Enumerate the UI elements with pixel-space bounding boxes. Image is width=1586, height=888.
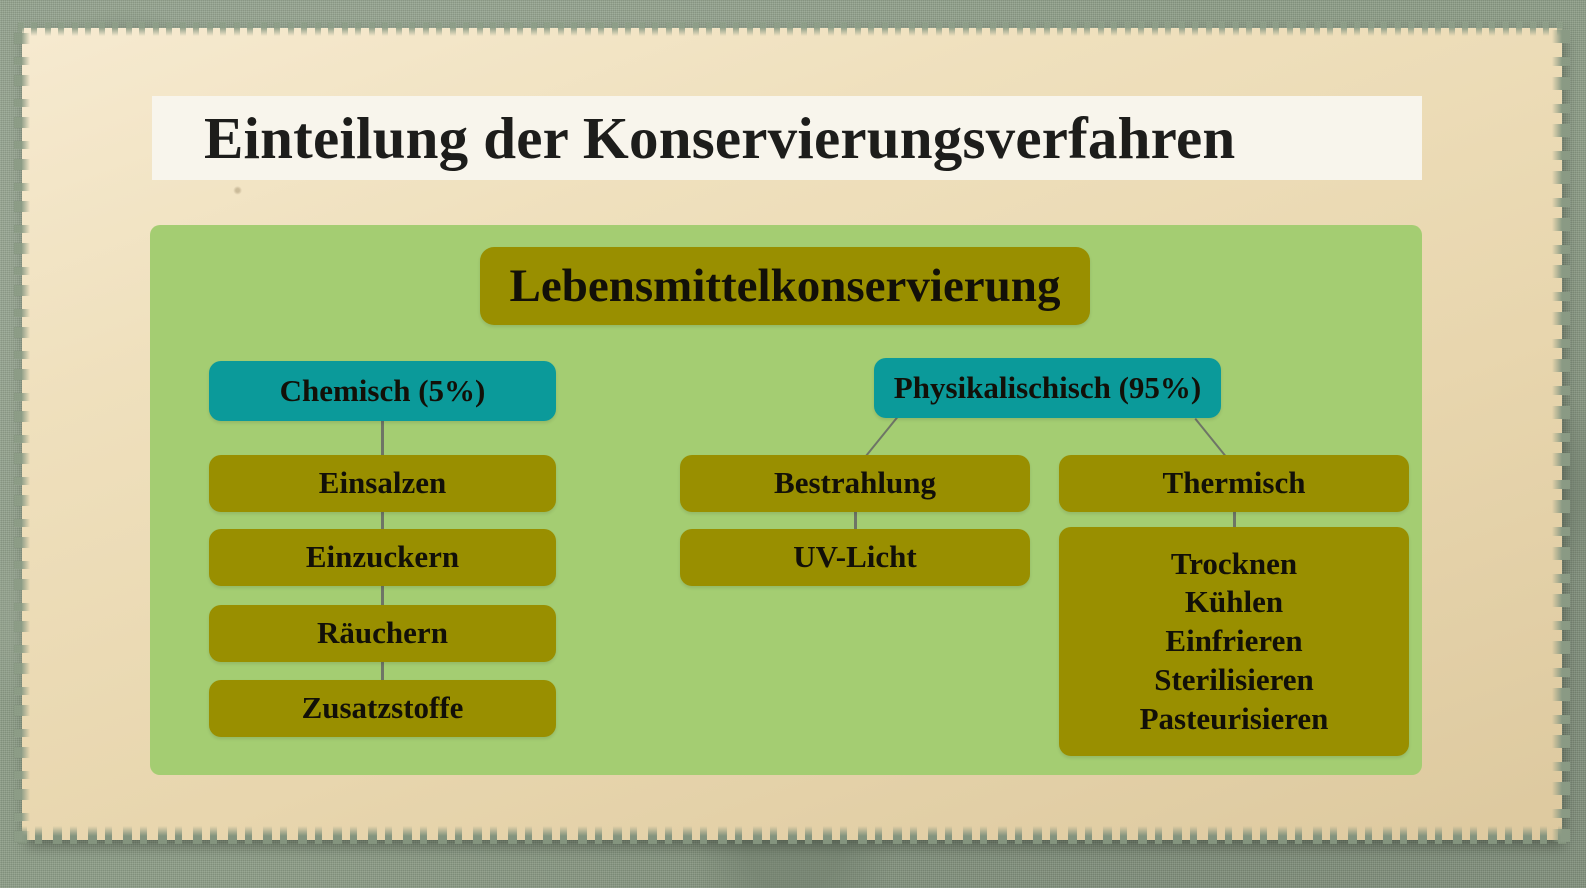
node-einsalzen[interactable]: Einsalzen <box>209 455 556 512</box>
page-title: Einteilung der Konservierungsverfahren <box>204 109 1235 168</box>
node-line: Sterilisieren <box>1154 661 1314 700</box>
node-line: Pasteurisieren <box>1140 700 1329 739</box>
node-thermisch[interactable]: Thermisch <box>1059 455 1409 512</box>
connector-einzuckern-to-raeuchern <box>381 586 384 605</box>
node-einzuckern[interactable]: Einzuckern <box>209 529 556 586</box>
node-uv-licht[interactable]: UV-Licht <box>680 529 1030 586</box>
title-banner: Einteilung der Konservierungsverfahren <box>152 96 1422 180</box>
node-lebensmittelkonservierung[interactable]: Lebensmittelkonservierung <box>480 247 1090 325</box>
node-raeuchern[interactable]: Räuchern <box>209 605 556 662</box>
node-zusatzstoffe[interactable]: Zusatzstoffe <box>209 680 556 737</box>
node-bestrahlung[interactable]: Bestrahlung <box>680 455 1030 512</box>
node-line: Einfrieren <box>1165 622 1302 661</box>
connector-chemisch-to-einsalzen <box>381 421 384 455</box>
node-thermische-verfahren-liste[interactable]: TrocknenKühlenEinfrierenSterilisierenPas… <box>1059 527 1409 756</box>
connector-bestrahlung-to-uvlicht <box>854 512 857 529</box>
connector-thermisch-to-methods <box>1233 512 1236 527</box>
slide-canvas: Einteilung der Konservierungsverfahren L… <box>0 0 1586 888</box>
node-line: Trocknen <box>1171 545 1297 584</box>
connector-raeuchern-to-zusatzstoffe <box>381 662 384 680</box>
node-line: Kühlen <box>1185 583 1283 622</box>
node-physikalischisch[interactable]: Physikalischisch (95%) <box>874 358 1221 418</box>
connector-einsalzen-to-einzuckern <box>381 512 384 529</box>
node-chemisch[interactable]: Chemisch (5%) <box>209 361 556 421</box>
